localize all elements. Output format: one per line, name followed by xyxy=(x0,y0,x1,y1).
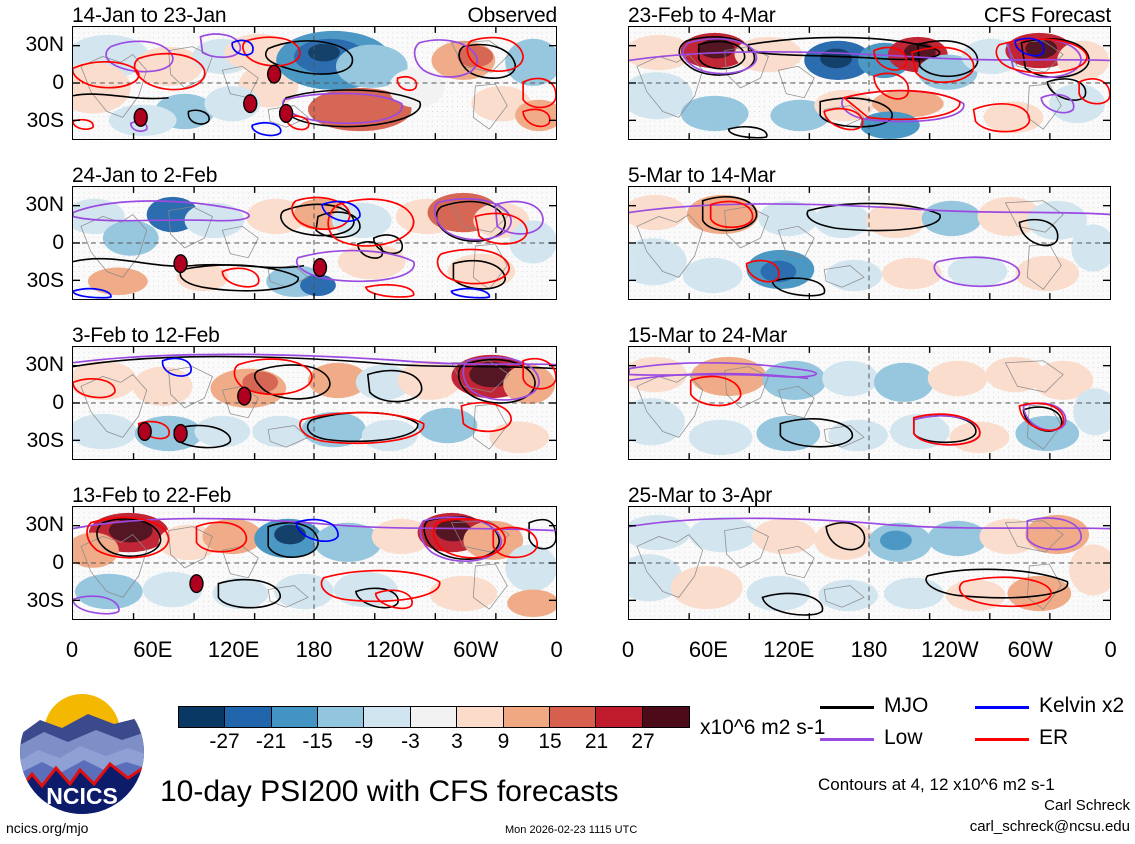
map-canvas xyxy=(73,347,556,459)
map-frame xyxy=(628,26,1111,140)
panel-observed-0: 14-Jan to 23-Jan Observed xyxy=(72,4,557,140)
legend-swatch-mjo xyxy=(820,706,874,709)
legend-label-low: Low xyxy=(884,726,923,750)
logo-text: NCICS xyxy=(46,783,118,809)
colorbar-units-label: x10^6 m2 s-1 xyxy=(700,716,825,740)
colorbar-tick-15: 15 xyxy=(538,730,561,754)
xtick-120w: 120W xyxy=(366,637,423,663)
map-frame xyxy=(628,186,1111,300)
map-canvas xyxy=(629,347,1110,459)
xtick-60w: 60W xyxy=(1008,637,1053,663)
colorbar-cell-9 xyxy=(596,707,642,727)
colorbar-tick-21: 21 xyxy=(585,730,608,754)
column-header-observed: Observed xyxy=(468,4,557,28)
colorbar-tick-3: 3 xyxy=(451,730,463,754)
colorbar: -27 -21 -15 -9 -3 3 9 15 21 27 xyxy=(178,706,690,758)
colorbar-cell-7 xyxy=(504,707,550,727)
xtick-60e: 60E xyxy=(133,637,172,663)
panel-title: 5-Mar to 14-Mar xyxy=(628,164,776,188)
colorbar-cell-0 xyxy=(179,707,225,727)
panel-title: 25-Mar to 3-Apr xyxy=(628,484,772,508)
colorbar-cell-8 xyxy=(550,707,596,727)
ytick-30n: 30N xyxy=(4,193,64,217)
colorbar-ticks: -27 -21 -15 -9 -3 3 9 15 21 27 xyxy=(178,730,690,754)
map-canvas xyxy=(73,507,556,619)
x-axis-right: 0 60E 120E 180 120W 60W 0 xyxy=(628,637,1111,667)
colorbar-cell-6 xyxy=(457,707,503,727)
map-frame xyxy=(628,346,1111,460)
x-axis-left: 0 60E 120E 180 120W 60W 0 xyxy=(72,637,557,667)
xtick-0: 0 xyxy=(622,637,634,663)
xtick-0-end: 0 xyxy=(550,637,562,663)
colorbar-strip xyxy=(178,706,690,728)
xtick-60e: 60E xyxy=(689,637,728,663)
xtick-180: 180 xyxy=(851,637,888,663)
map-canvas xyxy=(73,187,556,299)
legend-label-mjo: MJO xyxy=(884,694,928,718)
ytick-30s: 30S xyxy=(4,269,64,293)
panel-forecast-1: 5-Mar to 14-Mar xyxy=(628,164,1111,300)
xtick-0: 0 xyxy=(66,637,78,663)
colorbar-tick--3: -3 xyxy=(401,730,420,754)
xtick-120w: 120W xyxy=(921,637,978,663)
generated-timestamp: Mon 2026-02-23 1115 UTC xyxy=(505,824,637,836)
map-frame xyxy=(72,186,557,300)
legend-item-low: Low xyxy=(820,726,970,752)
panel-title: 3-Feb to 12-Feb xyxy=(72,324,220,348)
ytick-30s: 30S xyxy=(4,589,64,613)
xtick-120e: 120E xyxy=(763,637,814,663)
ytick-30n: 30N xyxy=(4,33,64,57)
contours-note: Contours at 4, 12 x10^6 m2 s-1 xyxy=(818,775,1055,795)
map-frame xyxy=(72,506,557,620)
panel-title: 24-Jan to 2-Feb xyxy=(72,164,217,188)
panel-title: 15-Mar to 24-Mar xyxy=(628,324,787,348)
legend-label-er: ER xyxy=(1039,726,1068,750)
map-frame xyxy=(628,506,1111,620)
panel-observed-2: 3-Feb to 12-Feb xyxy=(72,324,557,460)
colorbar-cell-3 xyxy=(318,707,364,727)
legend-swatch-er xyxy=(975,738,1029,741)
ytick-0: 0 xyxy=(4,231,64,255)
figure-root: 14-Jan to 23-Jan Observed xyxy=(0,0,1135,844)
colorbar-cell-10 xyxy=(643,707,689,727)
legend-item-mjo: MJO xyxy=(820,694,970,720)
panel-title: 13-Feb to 22-Feb xyxy=(72,484,231,508)
ytick-30n: 30N xyxy=(4,513,64,537)
ncics-logo-svg: NCICS xyxy=(18,688,146,816)
colorbar-cell-4 xyxy=(364,707,410,727)
site-url: ncics.org/mjo xyxy=(6,820,88,836)
colorbar-tick-9: 9 xyxy=(498,730,510,754)
xtick-120e: 120E xyxy=(208,637,259,663)
panel-observed-3: 13-Feb to 22-Feb xyxy=(72,484,557,620)
ytick-30s: 30S xyxy=(4,429,64,453)
ncics-logo: NCICS xyxy=(18,688,146,816)
map-frame xyxy=(72,346,557,460)
xtick-60w: 60W xyxy=(453,637,498,663)
author-name: Carl Schreck xyxy=(905,797,1130,814)
panel-forecast-3: 25-Mar to 3-Apr xyxy=(628,484,1111,620)
xtick-0-end: 0 xyxy=(1104,637,1116,663)
column-header-forecast: CFS Forecast xyxy=(984,4,1111,28)
colorbar-tick--27: -27 xyxy=(209,730,239,754)
figure-main-title: 10-day PSI200 with CFS forecasts xyxy=(160,775,619,809)
map-canvas xyxy=(629,507,1110,619)
legend-swatch-low xyxy=(820,738,874,741)
ytick-30n: 30N xyxy=(4,353,64,377)
colorbar-cell-1 xyxy=(225,707,271,727)
ytick-0: 0 xyxy=(4,551,64,575)
colorbar-tick--9: -9 xyxy=(355,730,374,754)
panel-title: 23-Feb to 4-Mar xyxy=(628,4,776,28)
colorbar-cell-2 xyxy=(272,707,318,727)
panel-forecast-2: 15-Mar to 24-Mar xyxy=(628,324,1111,460)
map-canvas xyxy=(73,27,556,139)
panel-forecast-0: 23-Feb to 4-Mar CFS Forecast xyxy=(628,4,1111,140)
map-canvas xyxy=(629,27,1110,139)
ytick-0: 0 xyxy=(4,391,64,415)
xtick-180: 180 xyxy=(296,637,333,663)
panel-observed-1: 24-Jan to 2-Feb xyxy=(72,164,557,300)
ytick-0: 0 xyxy=(4,71,64,95)
colorbar-tick--15: -15 xyxy=(302,730,332,754)
map-canvas xyxy=(629,187,1110,299)
legend-item-er: ER xyxy=(975,726,1135,752)
colorbar-cell-5 xyxy=(411,707,457,727)
ytick-30s: 30S xyxy=(4,109,64,133)
legend-item-kelvin: Kelvin x2 xyxy=(975,694,1135,720)
author-email: carl_schreck@ncsu.edu xyxy=(905,818,1130,835)
colorbar-tick-27: 27 xyxy=(631,730,654,754)
legend-label-kelvin: Kelvin x2 xyxy=(1039,694,1124,718)
panel-title: 14-Jan to 23-Jan xyxy=(72,4,226,28)
colorbar-tick--21: -21 xyxy=(256,730,286,754)
legend-swatch-kelvin xyxy=(975,706,1029,709)
map-frame xyxy=(72,26,557,140)
